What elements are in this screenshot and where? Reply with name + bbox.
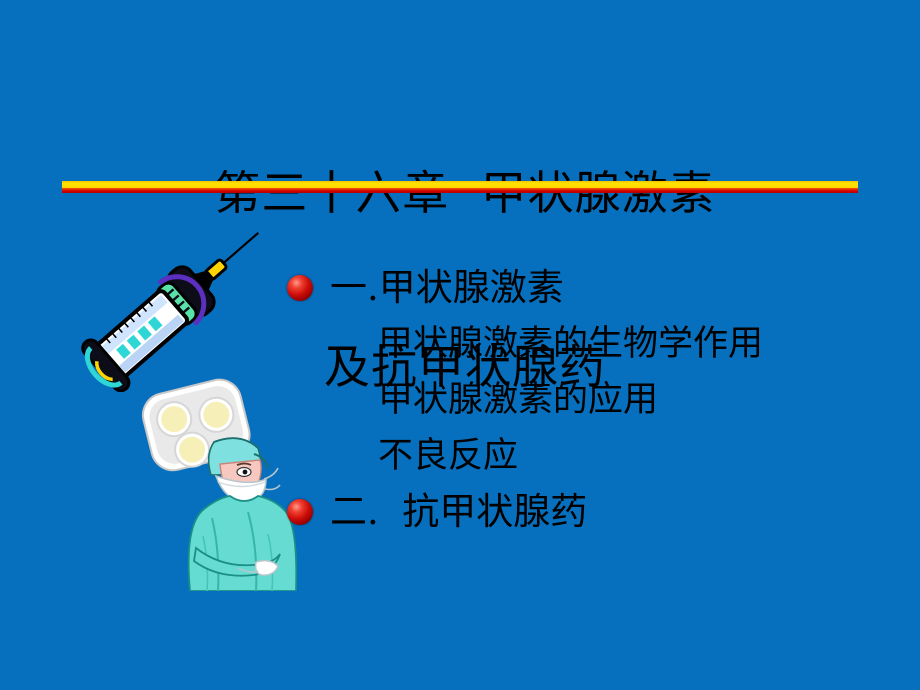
list-item-label: 甲状腺激素的应用 [378, 374, 658, 426]
list-item-label: 一.甲状腺激素 [330, 262, 564, 314]
red-sphere-bullet-icon [287, 499, 313, 525]
divider-yellow-bar [62, 181, 858, 188]
slide-body-list: 一.甲状腺激素 甲状腺激素的生物学作用 甲状腺激素的应用 不良反应 二. 抗甲状… [0, 262, 920, 542]
list-item-label: 不良反应 [378, 430, 518, 482]
list-item-label: 二. 抗甲状腺药 [330, 486, 587, 538]
list-item[interactable]: 甲状腺激素的生物学作用 [0, 318, 920, 374]
red-sphere-bullet-icon [287, 275, 313, 301]
list-item[interactable]: 一.甲状腺激素 [0, 262, 920, 318]
slide-canvas: 第三十六章 甲状腺激素 及抗甲状腺药 [0, 0, 920, 690]
list-item[interactable]: 不良反应 [0, 430, 920, 486]
title-divider-rule [62, 181, 858, 193]
list-item[interactable]: 二. 抗甲状腺药 [0, 486, 920, 542]
list-item-label: 甲状腺激素的生物学作用 [378, 318, 763, 370]
list-item[interactable]: 甲状腺激素的应用 [0, 374, 920, 430]
title-line-1: 第三十六章 甲状腺激素 [0, 164, 920, 222]
divider-red-bar [62, 188, 858, 193]
